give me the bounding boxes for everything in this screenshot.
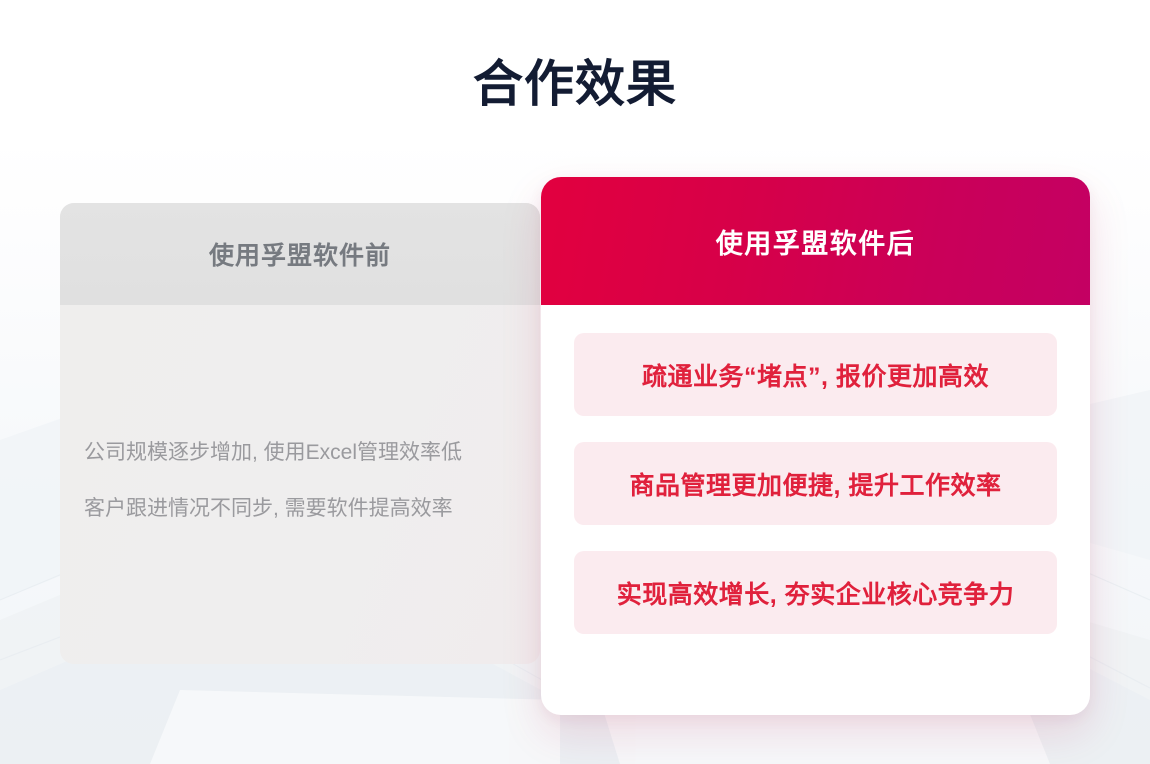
before-card-header-label: 使用孚盟软件前 (209, 236, 391, 272)
benefit-item: 商品管理更加便捷, 提升工作效率 (574, 442, 1057, 525)
after-card-body: 疏通业务“堵点”, 报价更加高效 商品管理更加便捷, 提升工作效率 实现高效增长… (541, 305, 1090, 668)
benefit-item: 疏通业务“堵点”, 报价更加高效 (574, 333, 1057, 416)
benefit-item-label: 疏通业务“堵点”, 报价更加高效 (642, 357, 989, 393)
benefit-item: 实现高效增长, 夯实企业核心竞争力 (574, 551, 1057, 634)
before-card-header: 使用孚盟软件前 (60, 203, 540, 305)
after-card-header: 使用孚盟软件后 (541, 177, 1090, 305)
slide-canvas: 合作效果 使用孚盟软件前 公司规模逐步增加, 使用Excel管理效率低 客户跟进… (0, 0, 1150, 764)
before-card-line: 客户跟进情况不同步, 需要软件提高效率 (60, 481, 540, 537)
before-card: 使用孚盟软件前 公司规模逐步增加, 使用Excel管理效率低 客户跟进情况不同步… (60, 203, 540, 664)
before-card-body: 公司规模逐步增加, 使用Excel管理效率低 客户跟进情况不同步, 需要软件提高… (60, 305, 540, 664)
benefit-item-label: 商品管理更加便捷, 提升工作效率 (630, 466, 1002, 502)
after-card: 使用孚盟软件后 疏通业务“堵点”, 报价更加高效 商品管理更加便捷, 提升工作效… (541, 177, 1090, 715)
after-card-header-label: 使用孚盟软件后 (716, 222, 916, 261)
page-title: 合作效果 (0, 55, 1150, 113)
benefit-item-label: 实现高效增长, 夯实企业核心竞争力 (617, 575, 1014, 611)
before-card-line: 公司规模逐步增加, 使用Excel管理效率低 (60, 425, 540, 481)
